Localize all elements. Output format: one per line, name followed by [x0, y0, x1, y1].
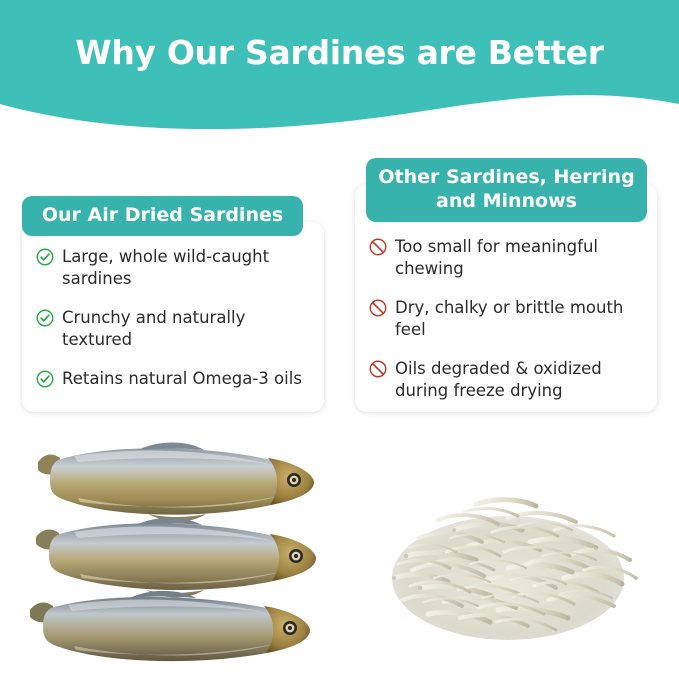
- product-photo-comparison: [0, 432, 679, 679]
- sardine-2: [36, 518, 316, 598]
- list-item: Dry, chalky or brittle mouth feel: [369, 297, 643, 341]
- check-circle-icon: [36, 248, 54, 266]
- prohibited-circle-icon: [369, 299, 387, 317]
- list-item-label: Too small for meaningful chewing: [395, 236, 643, 280]
- comparison-section: Large, whole wild-caught sardines Crunch…: [0, 150, 679, 440]
- whole-sardines-photo: [18, 432, 348, 662]
- list-item: Too small for meaningful chewing: [369, 236, 643, 280]
- page-title: Why Our Sardines are Better: [0, 33, 679, 72]
- prohibited-circle-icon: [369, 238, 387, 256]
- check-circle-icon: [36, 370, 54, 388]
- list-item: Retains natural Omega-3 oils: [36, 368, 308, 390]
- header-wave-shape: [0, 0, 679, 150]
- check-circle-icon: [36, 309, 54, 327]
- list-item-label: Large, whole wild-caught sardines: [62, 246, 308, 290]
- header-banner: Why Our Sardines are Better: [0, 0, 679, 150]
- list-item-label: Crunchy and naturally textured: [62, 307, 308, 351]
- dried-minnows-photo: [358, 460, 658, 660]
- list-item-label: Retains natural Omega-3 oils: [62, 368, 302, 390]
- sardine-3: [30, 591, 310, 662]
- list-item: Oils degraded & oxidized during freeze d…: [369, 358, 643, 402]
- sardine-1: [38, 443, 314, 522]
- ours-benefits-card: Large, whole wild-caught sardines Crunch…: [22, 222, 324, 412]
- others-heading-badge: Other Sardines, Herring and Minnows: [366, 158, 647, 222]
- list-item-label: Oils degraded & oxidized during freeze d…: [395, 358, 643, 402]
- list-item-label: Dry, chalky or brittle mouth feel: [395, 297, 643, 341]
- list-item: Large, whole wild-caught sardines: [36, 246, 308, 290]
- prohibited-circle-icon: [369, 360, 387, 378]
- list-item: Crunchy and naturally textured: [36, 307, 308, 351]
- ours-heading-badge: Our Air Dried Sardines: [22, 196, 303, 236]
